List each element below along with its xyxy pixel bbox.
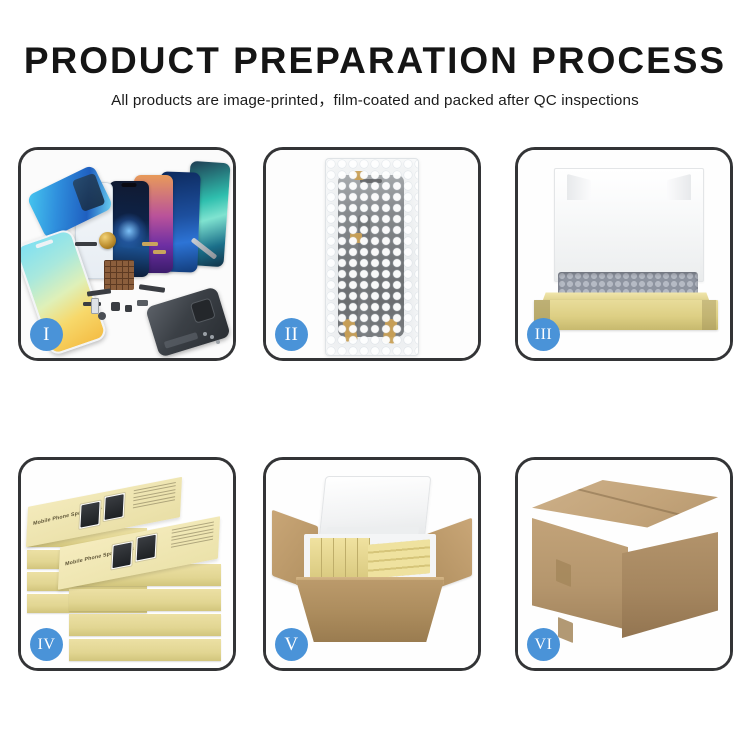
- phone-notch-icon: [122, 183, 137, 187]
- sim-tray-part: [91, 298, 99, 314]
- yellow-boxes-inside: [310, 538, 430, 580]
- gold-connector-part: [153, 250, 166, 254]
- gold-connector-part: [142, 242, 158, 246]
- small-component-part: [137, 300, 148, 306]
- box-label-phone-image: [78, 499, 101, 530]
- process-step-2: II: [263, 147, 481, 361]
- step-badge-5: V: [275, 628, 308, 661]
- process-step-6: VI: [515, 457, 733, 671]
- step-badge-2: II: [275, 318, 308, 351]
- camera-module-part: [111, 302, 120, 311]
- assembled-phone-notch-icon: [35, 239, 53, 249]
- stacked-box: [69, 589, 221, 611]
- box-label-phone-image: [110, 540, 133, 571]
- stacked-box: [69, 614, 221, 636]
- page-subtitle: All products are image-printed，film-coat…: [0, 93, 750, 108]
- sealed-carton: [532, 480, 718, 650]
- carton-right-face: [622, 532, 718, 638]
- carton-tape-lower: [558, 617, 573, 643]
- screws-group: [203, 332, 221, 344]
- box-label-specs: [132, 482, 175, 516]
- carton-left-face: [532, 518, 628, 630]
- carton-body: [296, 580, 444, 642]
- stacked-box: [69, 639, 221, 661]
- step-badge-4: IV: [30, 628, 63, 661]
- styrofoam-lid: [319, 476, 432, 540]
- bubble-wrap-bag: [325, 158, 419, 356]
- button-part: [98, 312, 106, 320]
- process-step-1: I: [18, 147, 236, 361]
- box-side-right: [702, 300, 716, 330]
- header: PRODUCT PREPARATION PROCESS All products…: [0, 0, 750, 108]
- step-badge-1: I: [30, 318, 63, 351]
- carton-seam: [560, 484, 690, 518]
- box-label-specs: [171, 521, 214, 555]
- step-badge-6: VI: [527, 628, 560, 661]
- box-label-phone-image: [135, 532, 158, 563]
- product-preparation-infographic: PRODUCT PREPARATION PROCESS All products…: [0, 0, 750, 750]
- speaker-part: [75, 242, 97, 246]
- process-step-3: III: [515, 147, 733, 361]
- process-grid: I: [0, 147, 750, 671]
- foam-inner-panel: [556, 200, 700, 278]
- process-step-5: V: [263, 457, 481, 671]
- page-title: PRODUCT PREPARATION PROCESS: [0, 42, 750, 79]
- yellow-box-front: [534, 300, 718, 330]
- vibration-motor-part: [99, 232, 116, 249]
- carton-open-scene: [272, 476, 472, 658]
- step-badge-3: III: [527, 318, 560, 351]
- process-row-2: Mobile Phone Spare Parts Mobile Phone Sp…: [0, 457, 750, 671]
- process-step-4: Mobile Phone Spare Parts Mobile Phone Sp…: [18, 457, 236, 671]
- open-box-scene: [526, 166, 724, 336]
- logic-board-part: [104, 260, 134, 290]
- small-component-part: [125, 305, 132, 312]
- bubble-texture: [326, 159, 418, 355]
- box-label-phone-image: [102, 492, 125, 523]
- process-row-1: I: [0, 147, 750, 361]
